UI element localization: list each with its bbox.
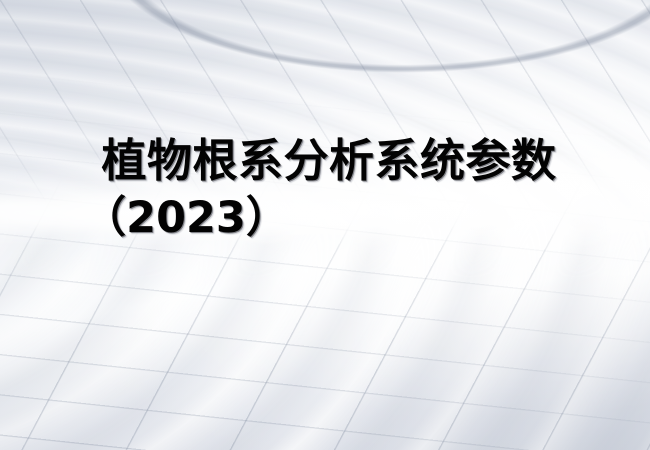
title-slide: 植物根系分析系统参数 （2023） (0, 0, 650, 450)
slide-title-line-2: （2023） (0, 197, 650, 241)
slide-title-line-1: 植物根系分析系统参数 (0, 138, 650, 184)
slide-title-block: 植物根系分析系统参数 （2023） (0, 138, 650, 241)
